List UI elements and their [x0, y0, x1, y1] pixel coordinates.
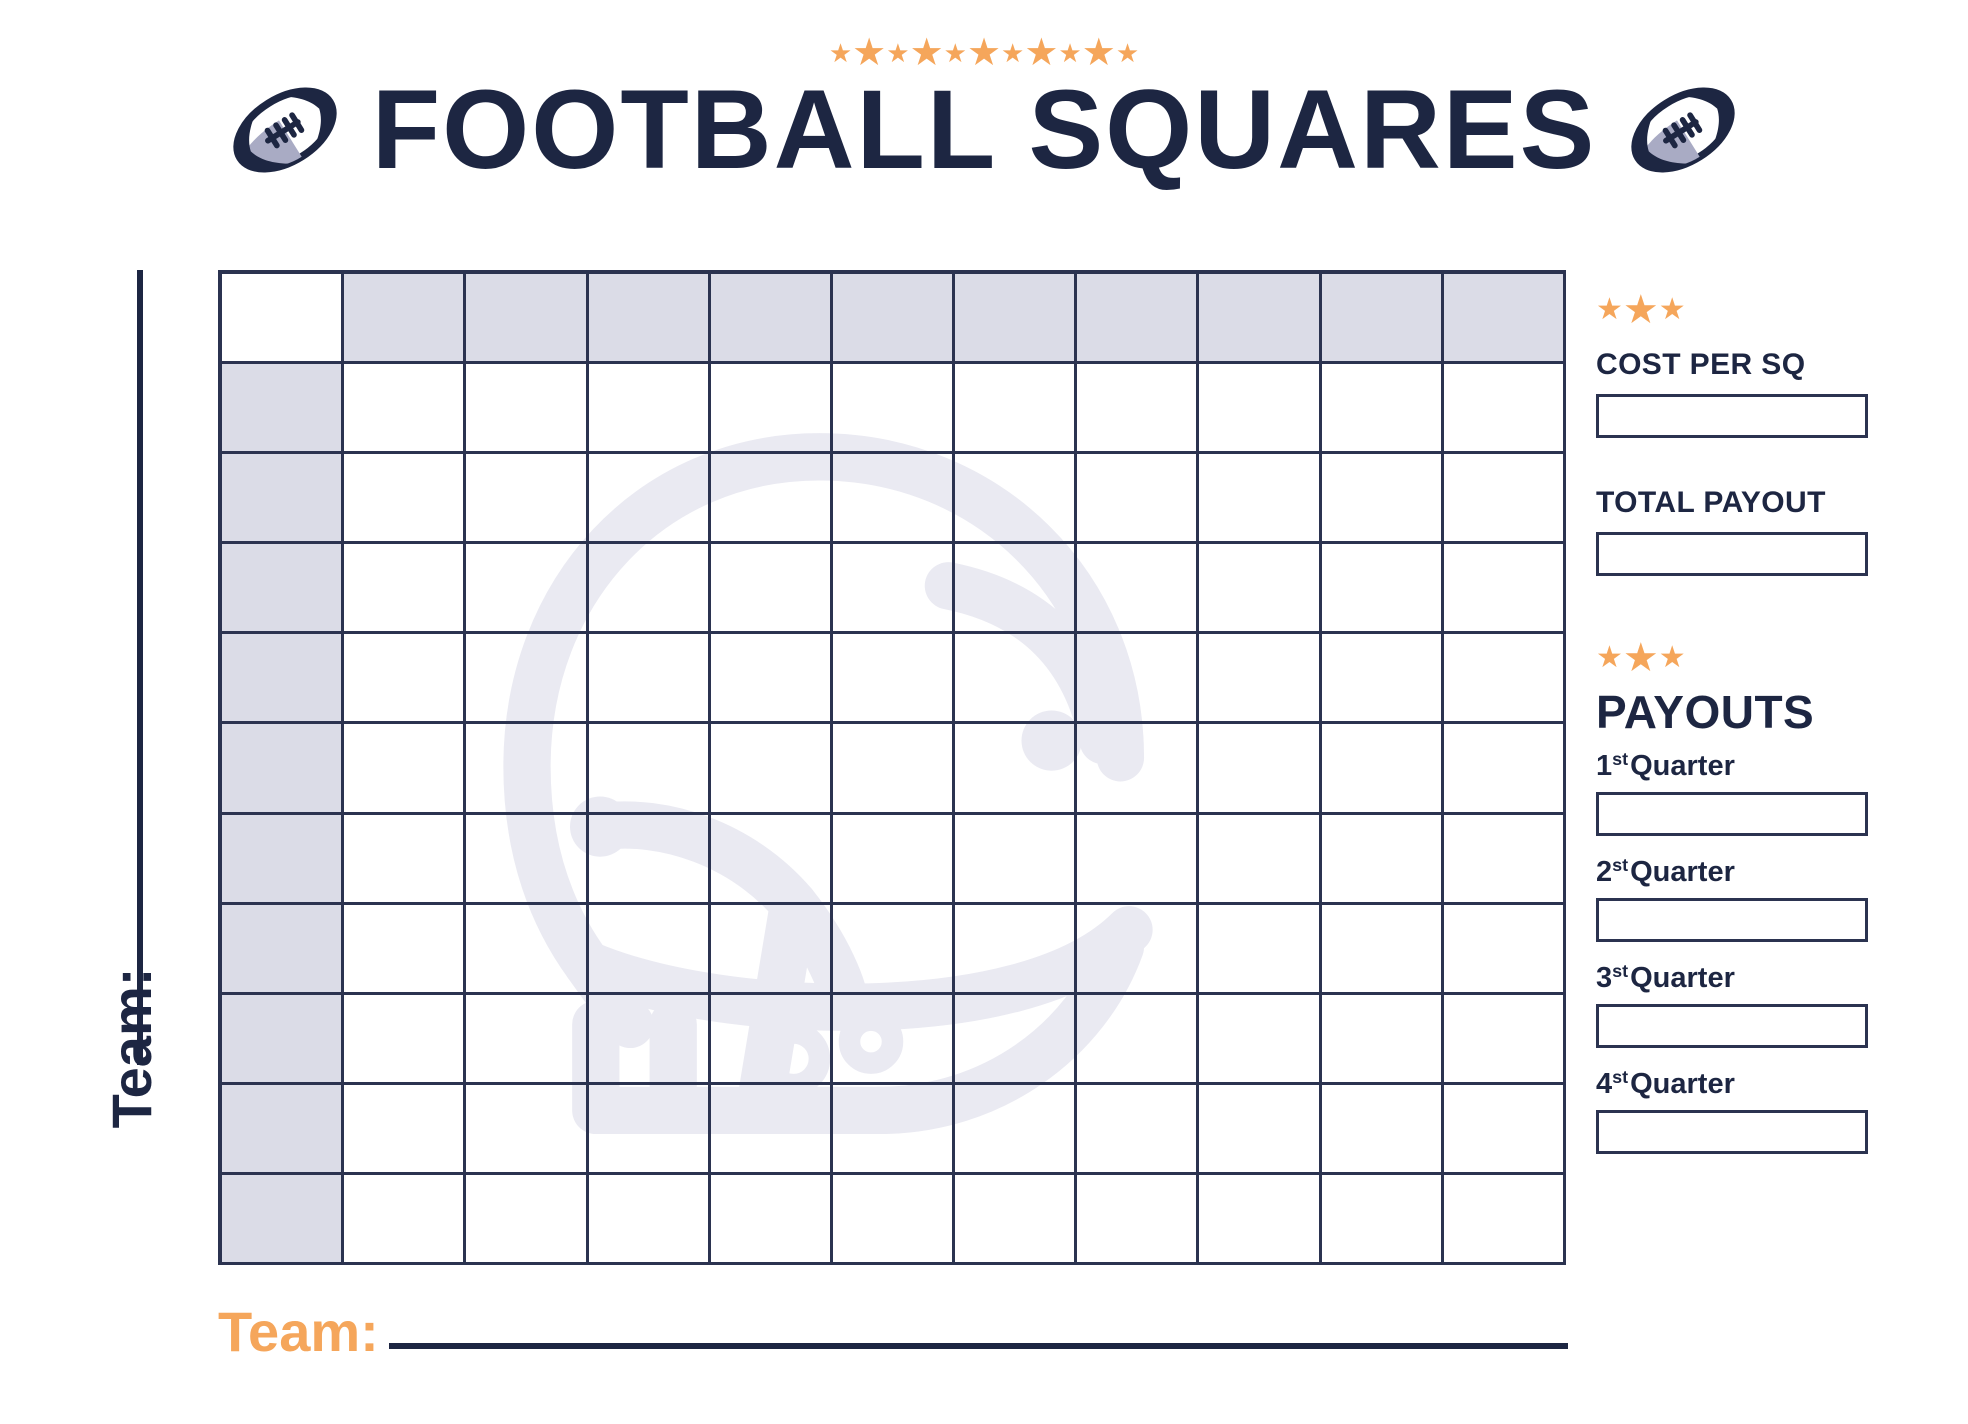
- grid-corner-cell[interactable]: [222, 274, 344, 364]
- square-cell-r1-c1[interactable]: [344, 364, 466, 454]
- square-cell-r1-c9[interactable]: [1322, 364, 1444, 454]
- square-cell-r3-c6[interactable]: [955, 544, 1077, 634]
- column-header-cell-4[interactable]: [711, 274, 833, 364]
- total-payout-label: TOTAL PAYOUT: [1596, 486, 1896, 520]
- square-cell-r10-c10[interactable]: [1444, 1175, 1566, 1265]
- row-header-cell-7[interactable]: [222, 905, 344, 995]
- square-cell-r1-c7[interactable]: [1077, 364, 1199, 454]
- quarter-label-3: 3stQuarter: [1596, 962, 1896, 995]
- square-cell-r10-c3[interactable]: [589, 1175, 711, 1265]
- square-cell-r4-c10[interactable]: [1444, 634, 1566, 724]
- cost-per-square-input[interactable]: [1596, 394, 1868, 438]
- square-cell-r9-c7[interactable]: [1077, 1085, 1199, 1175]
- square-cell-r3-c8[interactable]: [1199, 544, 1321, 634]
- square-cell-r5-c2[interactable]: [466, 724, 588, 814]
- square-cell-r2-c5[interactable]: [833, 454, 955, 544]
- square-cell-r9-c5[interactable]: [833, 1085, 955, 1175]
- quarter-payouts-list: 1stQuarter2stQuarter3stQuarter4stQuarter: [1596, 750, 1896, 1154]
- square-cell-r6-c2[interactable]: [466, 815, 588, 905]
- square-cell-r8-c10[interactable]: [1444, 995, 1566, 1085]
- bottom-team-label: Team:: [218, 1304, 379, 1360]
- star-icon-payouts-1: ★: [1596, 643, 1623, 673]
- football-icon-left: [222, 67, 348, 193]
- square-cell-r2-c2[interactable]: [466, 454, 588, 544]
- quarter-payout-block-4: 4stQuarter: [1596, 1068, 1896, 1154]
- square-cell-r3-c3[interactable]: [589, 544, 711, 634]
- quarter-label-2: 2stQuarter: [1596, 856, 1896, 889]
- quarter-payout-input-3[interactable]: [1596, 1004, 1868, 1048]
- square-cell-r2-c3[interactable]: [589, 454, 711, 544]
- square-cell-r9-c3[interactable]: [589, 1085, 711, 1175]
- page-header: ★★★★★★★★★★★ FOOTB: [0, 0, 1968, 215]
- left-team-label: Team:: [102, 898, 162, 1198]
- row-header-cell-8[interactable]: [222, 995, 344, 1085]
- square-cell-r10-c7[interactable]: [1077, 1175, 1199, 1265]
- square-cell-r8-c8[interactable]: [1199, 995, 1321, 1085]
- title-row: FOOTBALL SQUARES: [0, 60, 1968, 200]
- square-cell-r7-c7[interactable]: [1077, 905, 1199, 995]
- square-cell-r6-c3[interactable]: [589, 815, 711, 905]
- square-cell-r3-c9[interactable]: [1322, 544, 1444, 634]
- cost-per-square-label: COST PER SQ: [1596, 348, 1896, 382]
- square-cell-r6-c10[interactable]: [1444, 815, 1566, 905]
- row-header-cell-4[interactable]: [222, 634, 344, 724]
- square-cell-r8-c6[interactable]: [955, 995, 1077, 1085]
- column-header-cell-9[interactable]: [1322, 274, 1444, 364]
- square-cell-r10-c4[interactable]: [711, 1175, 833, 1265]
- square-cell-r9-c2[interactable]: [466, 1085, 588, 1175]
- cost-per-square-block: COST PER SQ: [1596, 348, 1896, 438]
- star-icon-cost-3: ★: [1659, 295, 1686, 325]
- square-cell-r6-c8[interactable]: [1199, 815, 1321, 905]
- square-cell-r5-c1[interactable]: [344, 724, 466, 814]
- quarter-payout-input-4[interactable]: [1596, 1110, 1868, 1154]
- column-header-cell-7[interactable]: [1077, 274, 1199, 364]
- square-cell-r8-c4[interactable]: [711, 995, 833, 1085]
- square-cell-r10-c8[interactable]: [1199, 1175, 1321, 1265]
- square-cell-r5-c9[interactable]: [1322, 724, 1444, 814]
- quarter-payout-input-2[interactable]: [1596, 898, 1868, 942]
- row-header-cell-2[interactable]: [222, 454, 344, 544]
- row-header-cell-10[interactable]: [222, 1175, 344, 1265]
- square-cell-r3-c2[interactable]: [466, 544, 588, 634]
- cost-section-star-row: ★★★: [1596, 290, 1896, 330]
- quarter-label-4: 4stQuarter: [1596, 1068, 1896, 1101]
- row-header-cell-5[interactable]: [222, 724, 344, 814]
- quarter-payout-block-2: 2stQuarter: [1596, 856, 1896, 942]
- square-cell-r4-c3[interactable]: [589, 634, 711, 724]
- square-cell-r7-c1[interactable]: [344, 905, 466, 995]
- star-icon-cost-2: ★: [1623, 290, 1659, 330]
- star-icon-payouts-3: ★: [1659, 643, 1686, 673]
- right-info-panel: ★★★ COST PER SQ TOTAL PAYOUT ★★★ PAYOUTS…: [1596, 290, 1896, 1174]
- square-cell-r6-c5[interactable]: [833, 815, 955, 905]
- squares-grid-wrapper: [218, 270, 1566, 1265]
- column-header-cell-10[interactable]: [1444, 274, 1566, 364]
- star-icon-cost-1: ★: [1596, 295, 1623, 325]
- square-cell-r10-c9[interactable]: [1322, 1175, 1444, 1265]
- square-cell-r8-c5[interactable]: [833, 995, 955, 1085]
- square-cell-r5-c8[interactable]: [1199, 724, 1321, 814]
- square-cell-r5-c5[interactable]: [833, 724, 955, 814]
- square-cell-r3-c10[interactable]: [1444, 544, 1566, 634]
- quarter-label-1: 1stQuarter: [1596, 750, 1896, 783]
- square-cell-r2-c8[interactable]: [1199, 454, 1321, 544]
- squares-grid[interactable]: [218, 270, 1566, 1265]
- row-header-cell-3[interactable]: [222, 544, 344, 634]
- square-cell-r7-c6[interactable]: [955, 905, 1077, 995]
- square-cell-r4-c2[interactable]: [466, 634, 588, 724]
- square-cell-r4-c9[interactable]: [1322, 634, 1444, 724]
- column-header-cell-1[interactable]: [344, 274, 466, 364]
- square-cell-r1-c2[interactable]: [466, 364, 588, 454]
- quarter-payout-block-1: 1stQuarter: [1596, 750, 1896, 836]
- star-icon-payouts-2: ★: [1623, 638, 1659, 678]
- left-team-axis: Team:: [100, 270, 160, 1265]
- row-header-cell-6[interactable]: [222, 815, 344, 905]
- square-cell-r4-c4[interactable]: [711, 634, 833, 724]
- square-cell-r5-c4[interactable]: [711, 724, 833, 814]
- square-cell-r10-c6[interactable]: [955, 1175, 1077, 1265]
- square-cell-r9-c9[interactable]: [1322, 1085, 1444, 1175]
- square-cell-r3-c1[interactable]: [344, 544, 466, 634]
- square-cell-r1-c5[interactable]: [833, 364, 955, 454]
- square-cell-r9-c8[interactable]: [1199, 1085, 1321, 1175]
- square-cell-r7-c8[interactable]: [1199, 905, 1321, 995]
- square-cell-r5-c6[interactable]: [955, 724, 1077, 814]
- square-cell-r1-c8[interactable]: [1199, 364, 1321, 454]
- square-cell-r6-c7[interactable]: [1077, 815, 1199, 905]
- bottom-team-write-line[interactable]: [389, 1343, 1568, 1349]
- row-header-cell-9[interactable]: [222, 1085, 344, 1175]
- square-cell-r5-c10[interactable]: [1444, 724, 1566, 814]
- square-cell-r8-c3[interactable]: [589, 995, 711, 1085]
- square-cell-r9-c6[interactable]: [955, 1085, 1077, 1175]
- square-cell-r6-c4[interactable]: [711, 815, 833, 905]
- square-cell-r2-c10[interactable]: [1444, 454, 1566, 544]
- square-cell-r3-c4[interactable]: [711, 544, 833, 634]
- square-cell-r4-c8[interactable]: [1199, 634, 1321, 724]
- square-cell-r2-c1[interactable]: [344, 454, 466, 544]
- square-cell-r2-c6[interactable]: [955, 454, 1077, 544]
- column-header-cell-6[interactable]: [955, 274, 1077, 364]
- column-header-cell-5[interactable]: [833, 274, 955, 364]
- square-cell-r3-c5[interactable]: [833, 544, 955, 634]
- square-cell-r5-c3[interactable]: [589, 724, 711, 814]
- square-cell-r4-c5[interactable]: [833, 634, 955, 724]
- column-header-cell-8[interactable]: [1199, 274, 1321, 364]
- square-cell-r1-c10[interactable]: [1444, 364, 1566, 454]
- quarter-payout-input-1[interactable]: [1596, 792, 1868, 836]
- square-cell-r8-c1[interactable]: [344, 995, 466, 1085]
- square-cell-r6-c1[interactable]: [344, 815, 466, 905]
- square-cell-r7-c5[interactable]: [833, 905, 955, 995]
- square-cell-r9-c1[interactable]: [344, 1085, 466, 1175]
- square-cell-r10-c1[interactable]: [344, 1175, 466, 1265]
- square-cell-r7-c10[interactable]: [1444, 905, 1566, 995]
- square-cell-r4-c6[interactable]: [955, 634, 1077, 724]
- page-title: FOOTBALL SQUARES: [372, 74, 1597, 186]
- square-cell-r8-c9[interactable]: [1322, 995, 1444, 1085]
- square-cell-r9-c4[interactable]: [711, 1085, 833, 1175]
- square-cell-r2-c7[interactable]: [1077, 454, 1199, 544]
- square-cell-r3-c7[interactable]: [1077, 544, 1199, 634]
- square-cell-r7-c4[interactable]: [711, 905, 833, 995]
- square-cell-r6-c6[interactable]: [955, 815, 1077, 905]
- square-cell-r1-c3[interactable]: [589, 364, 711, 454]
- quarter-payout-block-3: 3stQuarter: [1596, 962, 1896, 1048]
- square-cell-r10-c5[interactable]: [833, 1175, 955, 1265]
- square-cell-r2-c4[interactable]: [711, 454, 833, 544]
- total-payout-block: TOTAL PAYOUT: [1596, 486, 1896, 576]
- square-cell-r2-c9[interactable]: [1322, 454, 1444, 544]
- square-cell-r6-c9[interactable]: [1322, 815, 1444, 905]
- square-cell-r1-c4[interactable]: [711, 364, 833, 454]
- payouts-section-star-row: ★★★: [1596, 638, 1896, 678]
- square-cell-r4-c7[interactable]: [1077, 634, 1199, 724]
- payouts-heading: PAYOUTS: [1596, 688, 1896, 736]
- square-cell-r4-c1[interactable]: [344, 634, 466, 724]
- total-payout-input[interactable]: [1596, 532, 1868, 576]
- square-cell-r10-c2[interactable]: [466, 1175, 588, 1265]
- square-cell-r7-c2[interactable]: [466, 905, 588, 995]
- square-cell-r9-c10[interactable]: [1444, 1085, 1566, 1175]
- square-cell-r8-c2[interactable]: [466, 995, 588, 1085]
- football-icon-right: [1620, 67, 1746, 193]
- column-header-cell-3[interactable]: [589, 274, 711, 364]
- square-cell-r8-c7[interactable]: [1077, 995, 1199, 1085]
- row-header-cell-1[interactable]: [222, 364, 344, 454]
- square-cell-r5-c7[interactable]: [1077, 724, 1199, 814]
- bottom-team-axis: Team:: [218, 1292, 1568, 1372]
- column-header-cell-2[interactable]: [466, 274, 588, 364]
- square-cell-r7-c9[interactable]: [1322, 905, 1444, 995]
- square-cell-r7-c3[interactable]: [589, 905, 711, 995]
- square-cell-r1-c6[interactable]: [955, 364, 1077, 454]
